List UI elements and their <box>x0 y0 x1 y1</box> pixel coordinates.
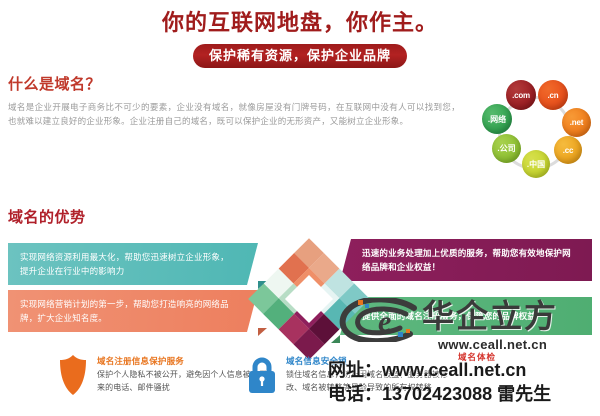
feature-privacy-protection: 域名注册信息保护服务 保护个人隐私不被公开，避免因个人信息被窃带来的电话、邮件骚… <box>56 354 271 396</box>
advantage-ribbon-fast-service: 迅速的业务处理加上优质的服务，帮助您有效地保护网络品牌和企业权益！ <box>340 239 592 281</box>
feature-body-lock: 锁住域名信息，防止因域名被盗、服务器被修改、域名被转移等风险导致的所有权转移 <box>286 369 460 394</box>
feature-title-lock: 域名信息安全锁 <box>286 355 460 367</box>
wheel-node-net: .net <box>562 108 591 137</box>
ribbon-tail-coral <box>258 328 267 336</box>
lock-icon <box>245 354 279 396</box>
watermark-subtitle: 域名体检 <box>458 351 496 363</box>
section-advantages: 域名的优势 <box>8 208 86 228</box>
advantage-ribbon-marketing-first-step: 实现网络营销计划的第一步，帮助您打造响亮的网络品牌，扩大企业知名度。 <box>8 290 258 332</box>
section-what-is-domain: 什么是域名？ 域名是企业开展电子商务比不可少的要素，企业没有域名，就像房屋没有门… <box>8 75 478 128</box>
hero-tagline-badge: 保护稀有资源，保护企业品牌 <box>193 44 407 68</box>
hero-badge-wrapper: 保护稀有资源，保护企业品牌 <box>0 44 600 68</box>
feature-security-lock: 域名信息安全锁 锁住域名信息，防止因域名被盗、服务器被修改、域名被转移等风险导致… <box>245 354 460 396</box>
section-paragraph-what-is-domain: 域名是企业开展电子商务比不可少的要素，企业没有域名，就像房屋没有门牌号码，在互联… <box>8 100 460 128</box>
shield-icon <box>56 354 90 396</box>
wheel-node-cn: .cn <box>538 80 568 110</box>
advantage-ribbon-network-resource: 实现网络资源利用最大化，帮助您迅速树立企业形象，提升企业在行业中的影响力 <box>8 243 258 285</box>
section-heading-what-is-domain: 什么是域名？ <box>8 75 478 95</box>
domain-extension-wheel: .com .cn .net .cc .中国 .公司 .网络 <box>476 78 596 190</box>
wheel-node-com: .com <box>506 80 536 110</box>
wheel-node-zhongguo: .中国 <box>522 150 550 178</box>
page-title: 你的互联网地盘，你作主。 <box>0 8 600 38</box>
feature-text-lock: 域名信息安全锁 锁住域名信息，防止因域名被盗、服务器被修改、域名被转移等风险导致… <box>286 354 460 394</box>
watermark-url: www.ceall.net.cn <box>438 337 547 352</box>
advantage-ribbon-registration-service: 提供全面的域名注册服务，保障您的品牌权益 <box>340 297 592 335</box>
wheel-node-wangluo: .网络 <box>482 104 512 134</box>
hero-banner: 你的互联网地盘，你作主。 保护稀有资源，保护企业品牌 <box>0 0 600 68</box>
wheel-node-cc: .cc <box>554 136 582 164</box>
page-root: { "hero": { "title": "你的互联网地盘，你作主。", "ba… <box>0 0 600 416</box>
wheel-node-gongsi: .公司 <box>492 134 521 163</box>
section-heading-advantages: 域名的优势 <box>8 208 86 228</box>
